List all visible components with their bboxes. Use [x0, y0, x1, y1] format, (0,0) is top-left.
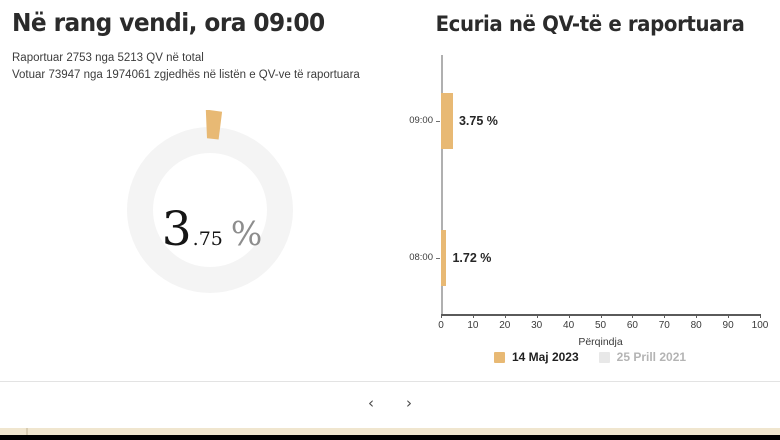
x-tick-label: 80: [691, 320, 702, 331]
x-tick-mark: [632, 314, 633, 318]
x-tick-mark: [601, 314, 602, 318]
x-tick-mark: [569, 314, 570, 318]
legend-label: 14 Maj 2023: [512, 350, 579, 364]
x-tick-label: 60: [627, 320, 638, 331]
x-tick-label: 100: [752, 320, 769, 331]
x-tick-label: 90: [723, 320, 734, 331]
page-title: Në rang vendi, ora 09:00: [12, 8, 325, 37]
dashboard-root: Në rang vendi, ora 09:00 Raportuar 2753 …: [0, 0, 780, 440]
x-tick-mark: [664, 314, 665, 318]
chart-title: Ecuria në QV-të e raportuara: [411, 12, 768, 36]
x-tick-label: 70: [659, 320, 670, 331]
pagination-controls: ‹ ›: [0, 393, 780, 414]
x-tick-mark: [505, 314, 506, 318]
x-tick-mark: [537, 314, 538, 318]
next-page-icon[interactable]: ›: [400, 393, 418, 414]
bar-chart-plot-area: 1.72 %3.75 % 08:0009:00 0102030405060708…: [400, 55, 780, 325]
legend-label: 25 Prill 2021: [617, 350, 686, 364]
x-tick-mark: [696, 314, 697, 318]
bar-0900[interactable]: [441, 93, 453, 149]
legend-item[interactable]: 14 Maj 2023: [494, 350, 579, 364]
x-axis-title: Përqindja: [441, 336, 760, 348]
legend-item[interactable]: 25 Prill 2021: [599, 350, 686, 364]
x-tick-label: 40: [563, 320, 574, 331]
donut-svg: [110, 110, 310, 300]
donut-track: [140, 140, 280, 280]
x-tick-mark: [441, 314, 442, 318]
bottom-black-strip: [0, 435, 780, 440]
footer-divider: [0, 381, 780, 382]
subtitle-line-voted: Votuar 73947 nga 1974061 zgjedhës në lis…: [12, 67, 360, 84]
bottom-accent-bar: [0, 428, 780, 435]
y-tick-mark: [436, 121, 440, 122]
turnout-donut-chart: 3 .75 %: [110, 110, 310, 300]
bar-value-label: 3.75 %: [459, 114, 498, 128]
chart-legend: 14 Maj 202325 Prill 2021: [400, 350, 780, 364]
y-tick-label: 08:00: [400, 252, 433, 263]
x-tick-mark: [728, 314, 729, 318]
y-tick-label: 09:00: [400, 115, 433, 126]
progress-chart-panel: Ecuria në QV-të e raportuara 1.72 %3.75 …: [400, 0, 780, 381]
x-tick-label: 0: [438, 320, 444, 331]
x-tick-mark: [760, 314, 761, 318]
subtitle-line-reported: Raportuar 2753 nga 5213 QV në total: [12, 50, 360, 67]
bottom-accent-tick: [26, 428, 28, 435]
previous-page-icon[interactable]: ‹: [362, 393, 380, 414]
bar-value-label: 1.72 %: [452, 251, 491, 265]
x-tick-label: 50: [595, 320, 606, 331]
summary-subtitle: Raportuar 2753 nga 5213 QV në total Votu…: [12, 50, 360, 84]
national-summary-panel: Në rang vendi, ora 09:00 Raportuar 2753 …: [0, 0, 400, 381]
x-tick-label: 10: [467, 320, 478, 331]
x-tick-label: 20: [499, 320, 510, 331]
legend-swatch: [599, 352, 610, 363]
bar-0800[interactable]: [441, 230, 446, 286]
x-tick-mark: [473, 314, 474, 318]
legend-swatch: [494, 352, 505, 363]
y-tick-mark: [436, 258, 440, 259]
x-tick-label: 30: [531, 320, 542, 331]
